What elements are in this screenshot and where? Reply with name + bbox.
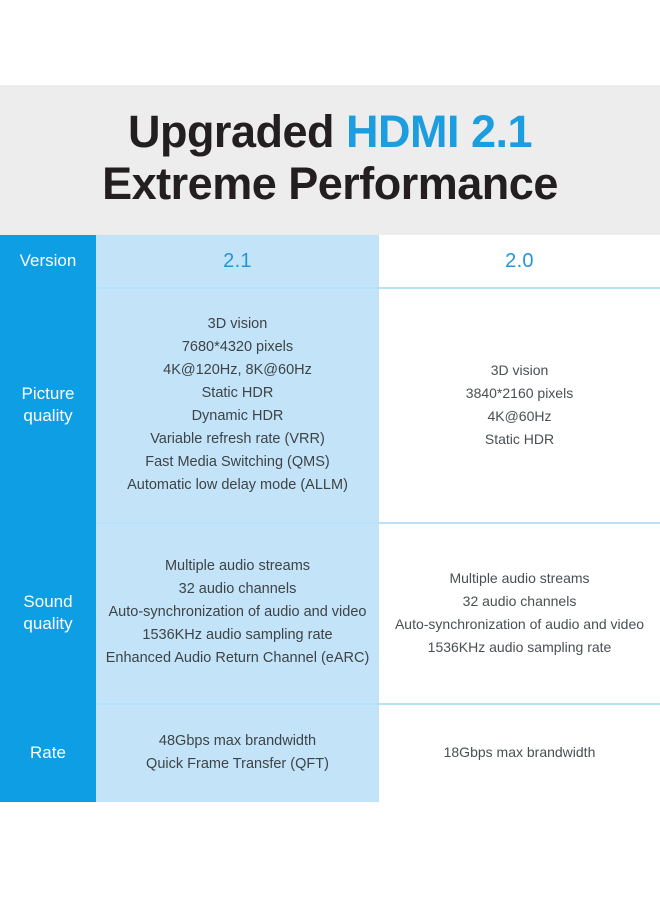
table-row: Rate 48Gbps max brandwidth Quick Frame T… xyxy=(0,703,660,802)
cell-rate-21: 48Gbps max brandwidth Quick Frame Transf… xyxy=(96,703,379,802)
column-header-20-label: 2.0 xyxy=(505,250,534,273)
cell-picture-quality-20: 3D vision 3840*2160 pixels 4K@60Hz Stati… xyxy=(379,287,660,522)
spec-item: 3D vision xyxy=(127,313,348,336)
spec-list: Multiple audio streams 32 audio channels… xyxy=(395,567,644,659)
spec-item: 4K@60Hz xyxy=(466,405,573,428)
table-header-row: Version 2.1 2.0 xyxy=(0,235,660,287)
spec-list: 3D vision 3840*2160 pixels 4K@60Hz Stati… xyxy=(466,359,573,451)
row-label-rate: Rate xyxy=(0,703,96,802)
spec-item: Enhanced Audio Return Channel (eARC) xyxy=(106,647,370,670)
spec-list: Multiple audio streams 32 audio channels… xyxy=(106,555,370,670)
row-label-sound-quality: Sound quality xyxy=(0,522,96,703)
row-label-line-1: Rate xyxy=(30,742,66,764)
spec-item: Automatic low delay mode (ALLM) xyxy=(127,474,348,497)
spec-item: Auto-synchronization of audio and video xyxy=(106,601,370,624)
spec-list: 18Gbps max brandwidth xyxy=(444,741,596,764)
spec-item: 32 audio channels xyxy=(395,590,644,613)
table-row: Picture quality 3D vision 7680*4320 pixe… xyxy=(0,287,660,522)
spec-item: 1536KHz audio sampling rate xyxy=(395,636,644,659)
spec-item: 3D vision xyxy=(466,359,573,382)
spec-item: 1536KHz audio sampling rate xyxy=(106,624,370,647)
spec-item: Multiple audio streams xyxy=(106,555,370,578)
spec-item: Static HDR xyxy=(466,428,573,451)
row-label-picture-quality: Picture quality xyxy=(0,287,96,522)
spec-item: Multiple audio streams xyxy=(395,567,644,590)
spec-list: 48Gbps max brandwidth Quick Frame Transf… xyxy=(146,730,329,776)
spec-item: 48Gbps max brandwidth xyxy=(146,730,329,753)
spec-item: Variable refresh rate (VRR) xyxy=(127,428,348,451)
spec-item: 32 audio channels xyxy=(106,578,370,601)
banner-title-line-1: Upgraded HDMI 2.1 xyxy=(128,106,532,158)
spec-item: 3840*2160 pixels xyxy=(466,382,573,405)
banner-title-line-2: Extreme Performance xyxy=(102,158,558,210)
column-header-21-label: 2.1 xyxy=(223,250,252,273)
cell-sound-quality-21: Multiple audio streams 32 audio channels… xyxy=(96,522,379,703)
row-label-line-2: quality xyxy=(23,406,72,425)
spec-list: 3D vision 7680*4320 pixels 4K@120Hz, 8K@… xyxy=(127,313,348,497)
cell-sound-quality-20: Multiple audio streams 32 audio channels… xyxy=(379,522,660,703)
banner-title-accent: HDMI 2.1 xyxy=(346,106,532,157)
column-header-version: Version xyxy=(0,235,96,287)
spec-item: 7680*4320 pixels xyxy=(127,336,348,359)
row-label-line-1: Picture xyxy=(22,384,75,403)
header-banner: Upgraded HDMI 2.1 Extreme Performance xyxy=(0,85,660,235)
spec-item: Auto-synchronization of audio and video xyxy=(395,613,644,636)
cell-picture-quality-21: 3D vision 7680*4320 pixels 4K@120Hz, 8K@… xyxy=(96,287,379,522)
spec-item: Quick Frame Transfer (QFT) xyxy=(146,753,329,776)
row-label-line-2: quality xyxy=(23,614,72,633)
spec-item: 4K@120Hz, 8K@60Hz xyxy=(127,359,348,382)
spec-item: Fast Media Switching (QMS) xyxy=(127,451,348,474)
table-row: Sound quality Multiple audio streams 32 … xyxy=(0,522,660,703)
spec-item: Static HDR xyxy=(127,382,348,405)
column-header-21: 2.1 xyxy=(96,235,379,287)
row-label-line-1: Sound xyxy=(23,592,72,611)
column-header-20: 2.0 xyxy=(379,235,660,287)
comparison-infographic: Upgraded HDMI 2.1 Extreme Performance Ve… xyxy=(0,0,660,900)
banner-title-prefix: Upgraded xyxy=(128,106,346,157)
spec-item: Dynamic HDR xyxy=(127,405,348,428)
spec-comparison-table: Version 2.1 2.0 Picture quality 3D visio… xyxy=(0,235,660,802)
spec-item: 18Gbps max brandwidth xyxy=(444,741,596,764)
cell-rate-20: 18Gbps max brandwidth xyxy=(379,703,660,802)
